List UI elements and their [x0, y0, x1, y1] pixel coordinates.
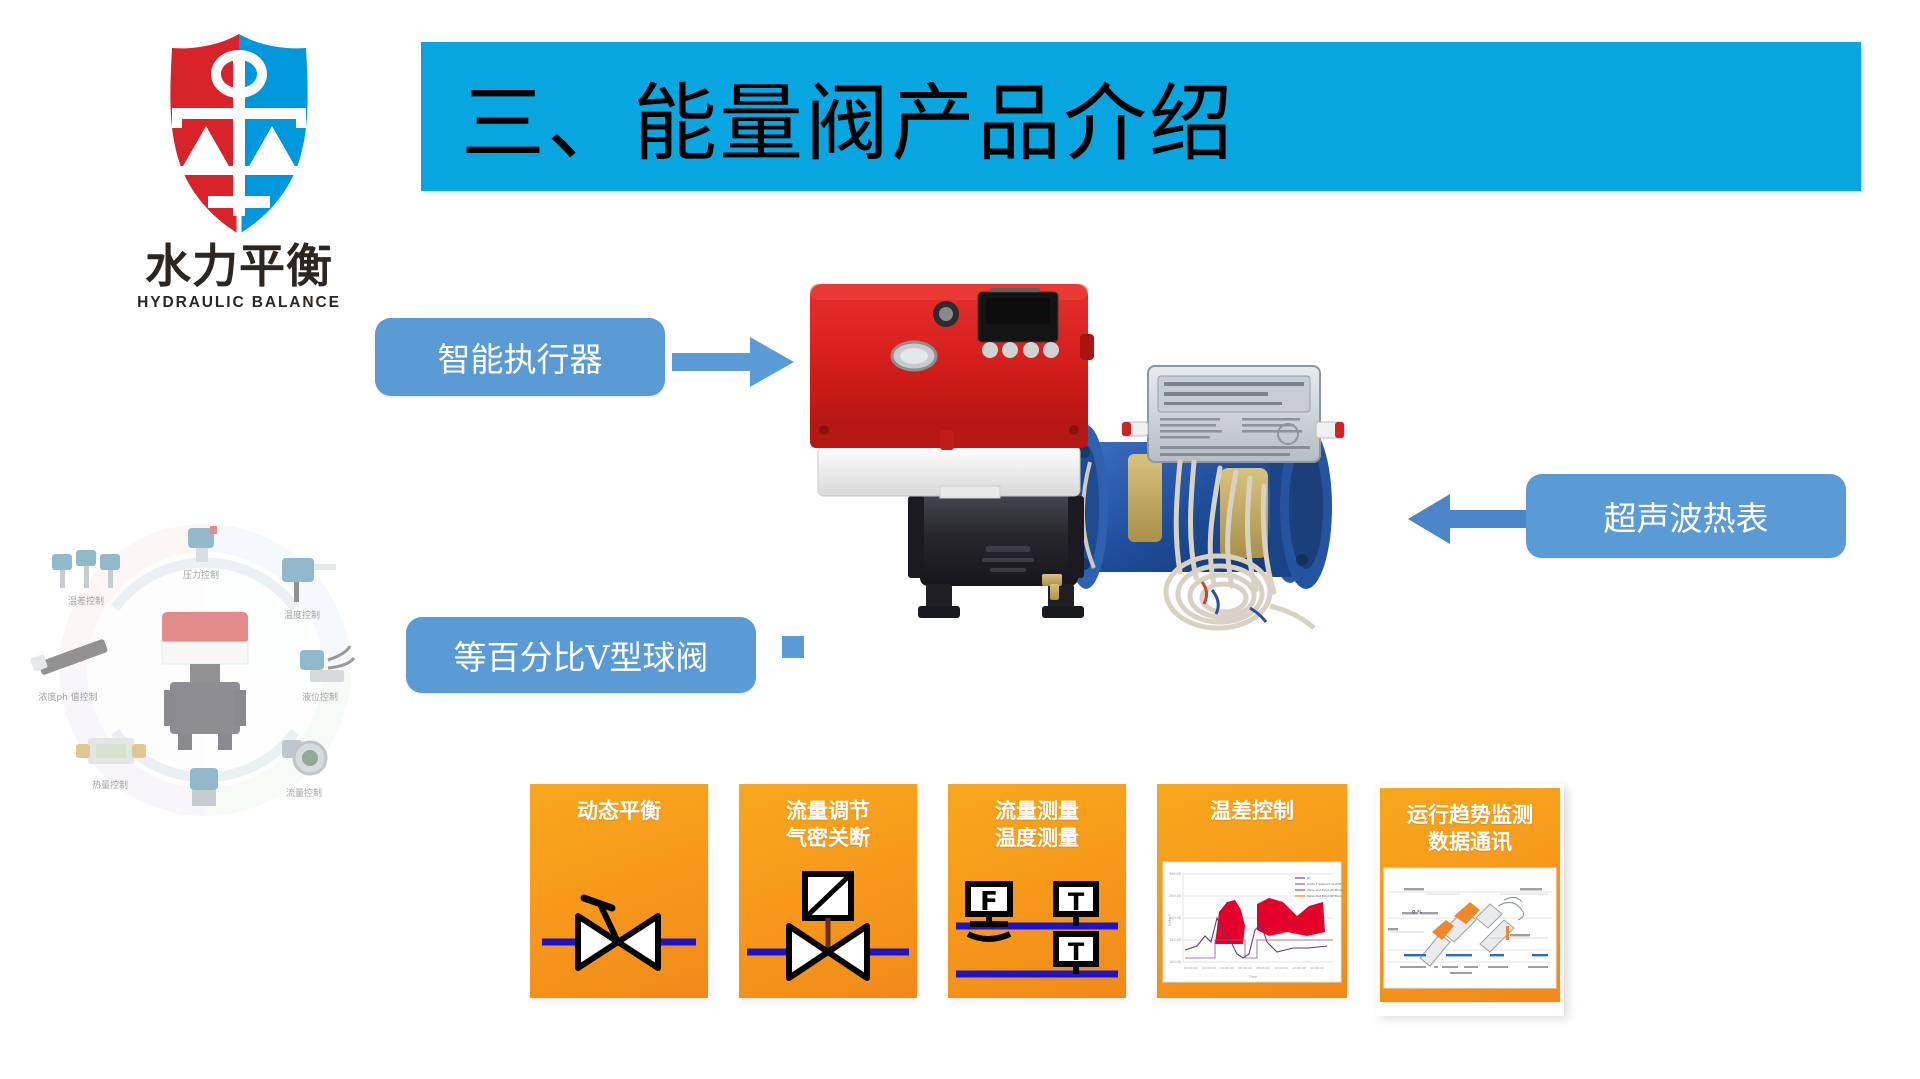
blue-square-marker	[782, 636, 804, 658]
svg-text:T: T	[1068, 888, 1085, 916]
shield-balance-icon	[134, 28, 344, 240]
flow-temp-sensor-symbol: F T T	[948, 860, 1126, 988]
svg-text:00:00:00: 00:00:00	[1184, 966, 1198, 970]
svg-text:Delta T Setpoint On/Off: Delta T Setpoint On/Off	[1307, 882, 1342, 886]
brand-name-cn: 水力平衡	[108, 242, 370, 290]
brand-name-en: HYDRAULIC BALANCE	[108, 294, 370, 312]
svg-text:02:00:00: 02:00:00	[1202, 966, 1216, 970]
svg-text:08:00:00: 08:00:00	[1256, 966, 1270, 970]
page-title: 三、能量阀产品介绍	[461, 56, 1235, 177]
arrow-right-icon	[672, 337, 794, 387]
feature-card-flow-regulation[interactable]: 流量调节 气密关断	[739, 784, 917, 998]
svg-text:04:00:00: 04:00:00	[1220, 966, 1234, 970]
svg-text:10:00:00: 10:00:00	[1274, 966, 1288, 970]
delta-t-trend-chart: 300.00 250.00 200.00 150.00 100.00 00:00…	[1157, 858, 1347, 990]
title-banner: 三、能量阀产品介绍	[421, 42, 1861, 191]
feature-card-title: 动态平衡	[530, 798, 708, 825]
feature-card-flow-temp-measurement[interactable]: 流量测量 温度测量 F T T	[948, 784, 1126, 998]
callout-v-ball-valve-label: 等百分比V型球阀	[454, 631, 709, 679]
svg-text:0 %: 0 %	[1412, 910, 1422, 916]
svg-text:ΔT: ΔT	[1307, 876, 1311, 880]
svg-text:T: T	[1068, 938, 1085, 966]
slide-canvas: 水力平衡 HYDRAULIC BALANCE 三、能量阀产品介绍	[0, 0, 1920, 1079]
svg-text:热量控制: 热量控制	[92, 779, 128, 791]
svg-text:F: F	[980, 887, 998, 917]
svg-text:温度控制: 温度控制	[284, 609, 320, 621]
company-logo: 水力平衡 HYDRAULIC BALANCE	[108, 28, 370, 318]
arrow-left-icon	[1408, 494, 1526, 544]
svg-text:300.00: 300.00	[1169, 872, 1181, 876]
callout-ultrasonic-heat-meter[interactable]: 超声波热表	[1526, 474, 1846, 558]
svg-text:06:00:00: 06:00:00	[1238, 966, 1252, 970]
manual-balancing-valve-symbol	[530, 860, 708, 988]
svg-text:浓度ph 值控制: 浓度ph 值控制	[38, 691, 97, 703]
svg-text:Valve Out Exist (DTMinA): Valve Out Exist (DTMinA)	[1307, 888, 1343, 892]
svg-text:250.00: 250.00	[1169, 894, 1181, 898]
feature-card-title: 运行趋势监测 数据通讯	[1380, 802, 1560, 856]
svg-text:温差控制: 温差控制	[68, 595, 104, 607]
feature-card-delta-t-control[interactable]: 温差控制 300.00 250.	[1157, 784, 1347, 998]
callout-smart-actuator[interactable]: 智能执行器	[375, 318, 665, 396]
valve-schematic-data-sheet: 0 %	[1380, 862, 1560, 994]
svg-text:流量控制: 流量控制	[286, 787, 322, 799]
energy-valve-assembly-photo	[750, 272, 1380, 672]
application-overview-diagram: 压力控制 温度控制 液位控制 流量控制	[10, 500, 400, 840]
svg-text:Valve Out Exist (DTMax): Valve Out Exist (DTMax)	[1307, 894, 1342, 898]
svg-text:100.00: 100.00	[1169, 960, 1181, 964]
actuated-control-valve-symbol	[739, 860, 917, 988]
svg-text:14:00:00: 14:00:00	[1310, 966, 1324, 970]
feature-card-title: 温差控制	[1157, 798, 1347, 825]
svg-text:12:00:00: 12:00:00	[1292, 966, 1306, 970]
callout-v-ball-valve[interactable]: 等百分比V型球阀	[406, 617, 756, 693]
feature-card-title: 流量测量 温度测量	[948, 798, 1126, 852]
callout-ultrasonic-heat-meter-label: 超声波热表	[1604, 492, 1769, 540]
callout-smart-actuator-label: 智能执行器	[438, 333, 603, 381]
feature-card-trend-monitoring[interactable]: 运行趋势监测 数据通讯	[1380, 788, 1560, 1002]
feature-card-title: 流量调节 气密关断	[739, 798, 917, 852]
svg-text:压力控制: 压力控制	[183, 569, 219, 581]
svg-text:Delta T: Delta T	[1168, 913, 1172, 926]
svg-text:150.00: 150.00	[1169, 938, 1181, 942]
svg-text:液位控制: 液位控制	[302, 691, 338, 703]
feature-card-dynamic-balance[interactable]: 动态平衡	[530, 784, 708, 998]
svg-text:Time: Time	[1248, 975, 1257, 979]
feature-card-row: 动态平衡 流量调节 气密关断	[530, 784, 1800, 1022]
